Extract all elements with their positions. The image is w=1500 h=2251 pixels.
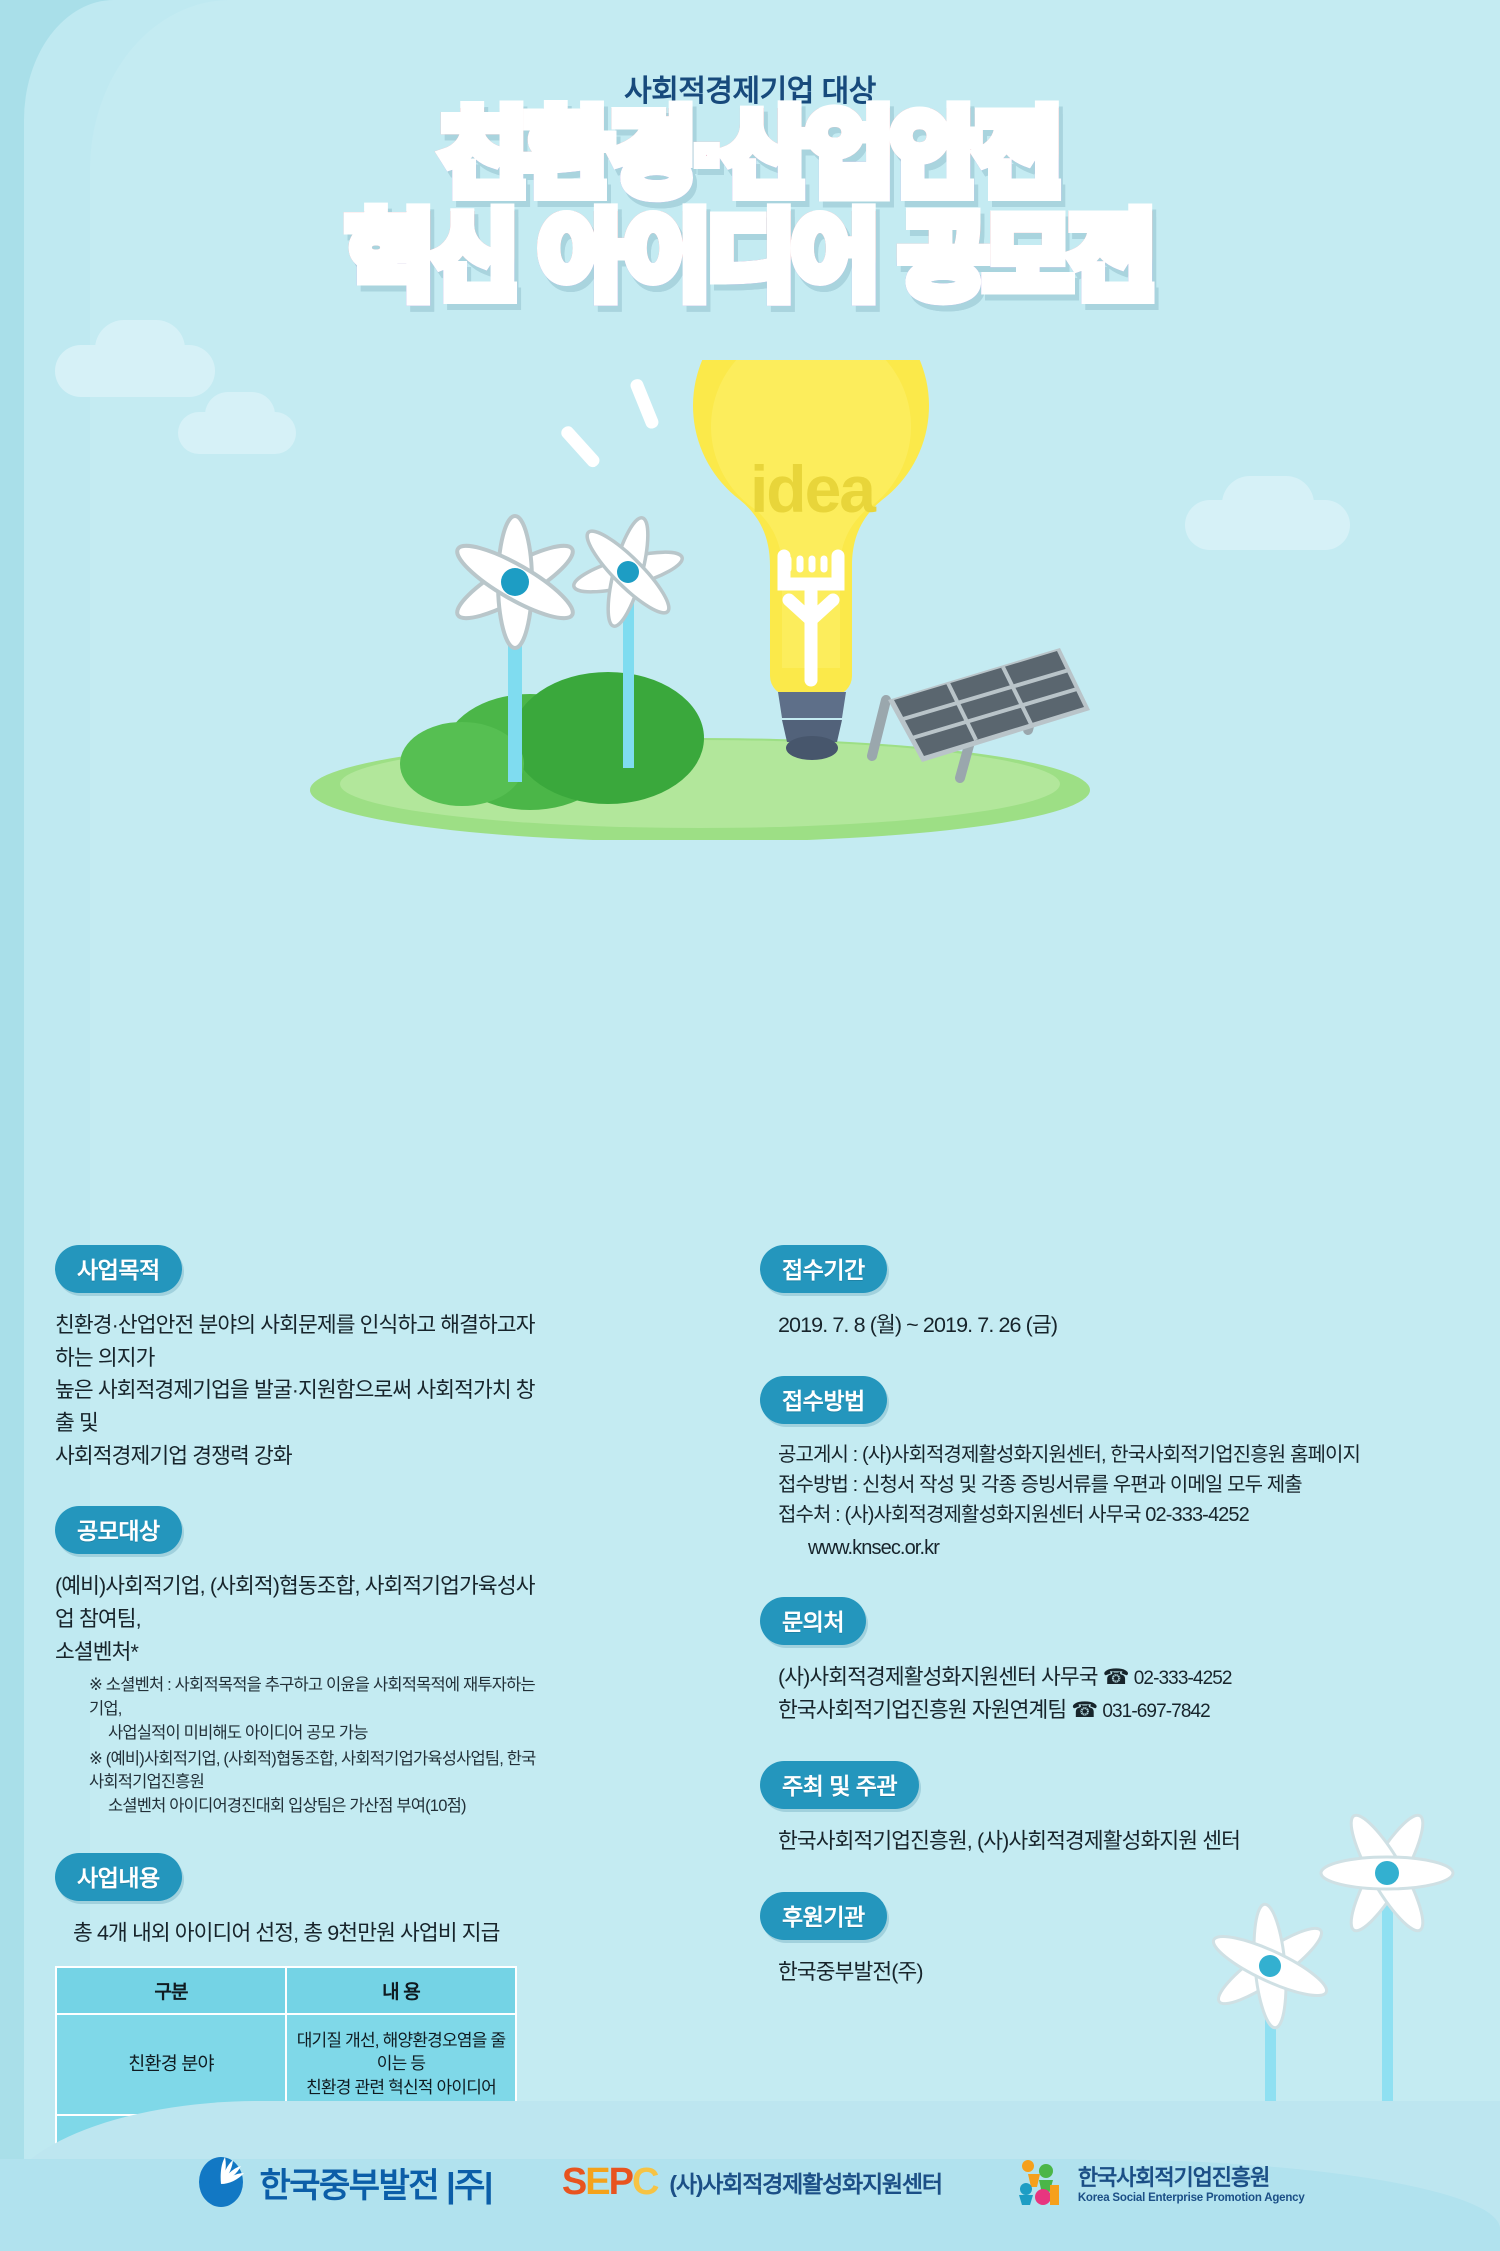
sepc-letter-p: P bbox=[609, 2161, 632, 2204]
eligibility-body: (예비)사회적기업, (사회적)협동조합, 사회적기업가육성사업 참여팀, 소셜… bbox=[55, 1570, 545, 1668]
sepc-letter-c: C bbox=[632, 2161, 657, 2204]
kosea-logo-text-main: 한국사회적기업진흥원 bbox=[1078, 2160, 1305, 2192]
kosea-logo-text-group: 한국사회적기업진흥원 Korea Social Enterprise Promo… bbox=[1078, 2160, 1305, 2204]
page-title: 친환경·산업안전 혁신 아이디어 공모전 bbox=[0, 108, 1500, 306]
illustration-svg: idea bbox=[200, 360, 1300, 840]
logo-komipo: 한국중부발전 |주| bbox=[195, 2156, 491, 2208]
section-badge-period: 접수기간 bbox=[760, 1245, 887, 1293]
cloud-icon bbox=[95, 320, 185, 378]
note-main: ※ (예비)사회적기업, (사회적)협동조합, 사회적기업가육성사업팀, 한국사… bbox=[89, 1750, 536, 1792]
table-header-category: 구분 bbox=[56, 1967, 286, 2014]
sepc-letter-e: E bbox=[585, 2161, 608, 2204]
section-period: 접수기간 2019. 7. 8 (월) ~ 2019. 7. 26 (금) bbox=[760, 1245, 1420, 1342]
purpose-body: 친환경·산업안전 분야의 사회문제를 인식하고 해결하고자 하는 의지가 높은 … bbox=[55, 1309, 545, 1472]
contact-phone: 031-697-7842 bbox=[1102, 1701, 1210, 1722]
contact-row: (사)사회적경제활성화지원센터 사무국 ☎ 02-333-4252 bbox=[778, 1661, 1420, 1694]
poster-root: 사회적경제기업 대상 친환경·산업안전 혁신 아이디어 공모전 bbox=[0, 0, 1500, 2251]
section-badge-program-details: 사업내용 bbox=[55, 1853, 182, 1901]
contact-name: 한국사회적기업진흥원 자원연계팀 bbox=[778, 1698, 1066, 1722]
title-line-1: 친환경·산업안전 bbox=[0, 108, 1500, 203]
decorative-wind-turbines bbox=[1170, 1811, 1490, 2141]
section-badge-organizer: 주최 및 주관 bbox=[760, 1761, 919, 1809]
bush-shape bbox=[512, 672, 704, 804]
table-header-content: 내 용 bbox=[286, 1967, 516, 2014]
note-sub: 사업실적이 미비해도 아이디어 공모 가능 bbox=[89, 1722, 545, 1746]
title-line-2: 혁신 아이디어 공모전 bbox=[0, 211, 1500, 306]
logo-sepc: S E P C (사)사회적경제활성화지원센터 bbox=[562, 2161, 942, 2204]
section-inquiry: 문의처 (사)사회적경제활성화지원센터 사무국 ☎ 02-333-4252 한국… bbox=[760, 1597, 1420, 1727]
table-cell-category: 친환경 분야 bbox=[56, 2014, 286, 2115]
komipo-logo-text: 한국중부발전 |주| bbox=[259, 2158, 491, 2207]
contact-name: (사)사회적경제활성화지원센터 사무국 bbox=[778, 1665, 1098, 1689]
section-eligibility: 공모대상 (예비)사회적기업, (사회적)협동조합, 사회적기업가육성사업 참여… bbox=[55, 1506, 545, 1819]
wind-turbine-icon bbox=[1207, 1903, 1332, 2116]
note-main: ※ 소셜벤처 : 사회적목적을 추구하고 이윤을 사회적목적에 재투자하는 기업… bbox=[89, 1676, 535, 1718]
bush-shape bbox=[400, 722, 524, 806]
komipo-mark-icon bbox=[195, 2156, 247, 2208]
submission-url: www.knsec.or.kr bbox=[760, 1533, 1420, 1563]
submission-body: 공고게시 : (사)사회적경제활성화지원센터, 한국사회적기업진흥원 홈페이지 … bbox=[760, 1440, 1420, 1531]
note-item: ※ (예비)사회적기업, (사회적)협동조합, 사회적기업가육성사업팀, 한국사… bbox=[89, 1748, 545, 1819]
section-badge-inquiry: 문의처 bbox=[760, 1597, 866, 1645]
note-item: ※ 소셜벤처 : 사회적목적을 추구하고 이윤을 사회적목적에 재투자하는 기업… bbox=[89, 1674, 545, 1745]
telephone-icon: ☎ bbox=[1103, 1665, 1129, 1689]
inquiry-list: (사)사회적경제활성화지원센터 사무국 ☎ 02-333-4252 한국사회적기… bbox=[760, 1661, 1420, 1727]
logo-kosea: 한국사회적기업진흥원 Korea Social Enterprise Promo… bbox=[1012, 2155, 1305, 2209]
eligibility-notes: ※ 소셜벤처 : 사회적목적을 추구하고 이윤을 사회적목적에 재투자하는 기업… bbox=[55, 1674, 545, 1819]
kosea-mark-icon bbox=[1012, 2155, 1066, 2209]
section-purpose: 사업목적 친환경·산업안전 분야의 사회문제를 인식하고 해결하고자 하는 의지… bbox=[55, 1245, 545, 1472]
sepc-mark-icon: S E P C bbox=[562, 2161, 658, 2204]
section-badge-eligibility: 공모대상 bbox=[55, 1506, 182, 1554]
section-badge-purpose: 사업목적 bbox=[55, 1245, 182, 1293]
section-badge-submission: 접수방법 bbox=[760, 1376, 887, 1424]
contact-row: 한국사회적기업진흥원 자원연계팀 ☎ 031-697-7842 bbox=[778, 1694, 1420, 1727]
table-row: 친환경 분야 대기질 개선, 해양환경오염을 줄이는 등 친환경 관련 혁신적 … bbox=[56, 2014, 516, 2115]
footer-logos: 한국중부발전 |주| S E P C (사)사회적경제활성화지원센터 bbox=[0, 2155, 1500, 2209]
table-header-row: 구분 내 용 bbox=[56, 1967, 516, 2014]
kosea-logo-text-sub: Korea Social Enterprise Promotion Agency bbox=[1078, 2192, 1305, 2204]
section-submission: 접수방법 공고게시 : (사)사회적경제활성화지원센터, 한국사회적기업진흥원 … bbox=[760, 1376, 1420, 1564]
wind-turbine-icon bbox=[1321, 1811, 1453, 2117]
bulb-label: idea bbox=[750, 452, 877, 526]
telephone-icon: ☎ bbox=[1071, 1698, 1097, 1722]
note-sub: 소셜벤처 아이디어경진대회 입상팀은 가산점 부여(10점) bbox=[89, 1795, 545, 1819]
section-badge-sponsor: 후원기관 bbox=[760, 1892, 887, 1940]
table-cell-content: 대기질 개선, 해양환경오염을 줄이는 등 친환경 관련 혁신적 아이디어 bbox=[286, 2014, 516, 2115]
program-details-body: 총 4개 내외 아이디어 선정, 총 9천만원 사업비 지급 bbox=[55, 1917, 545, 1950]
illustration: idea bbox=[200, 360, 1300, 840]
contact-phone: 02-333-4252 bbox=[1134, 1668, 1232, 1689]
period-body: 2019. 7. 8 (월) ~ 2019. 7. 26 (금) bbox=[760, 1309, 1420, 1342]
sepc-letter-s: S bbox=[562, 2161, 585, 2204]
sepc-logo-text: (사)사회적경제활성화지원센터 bbox=[669, 2165, 941, 2199]
